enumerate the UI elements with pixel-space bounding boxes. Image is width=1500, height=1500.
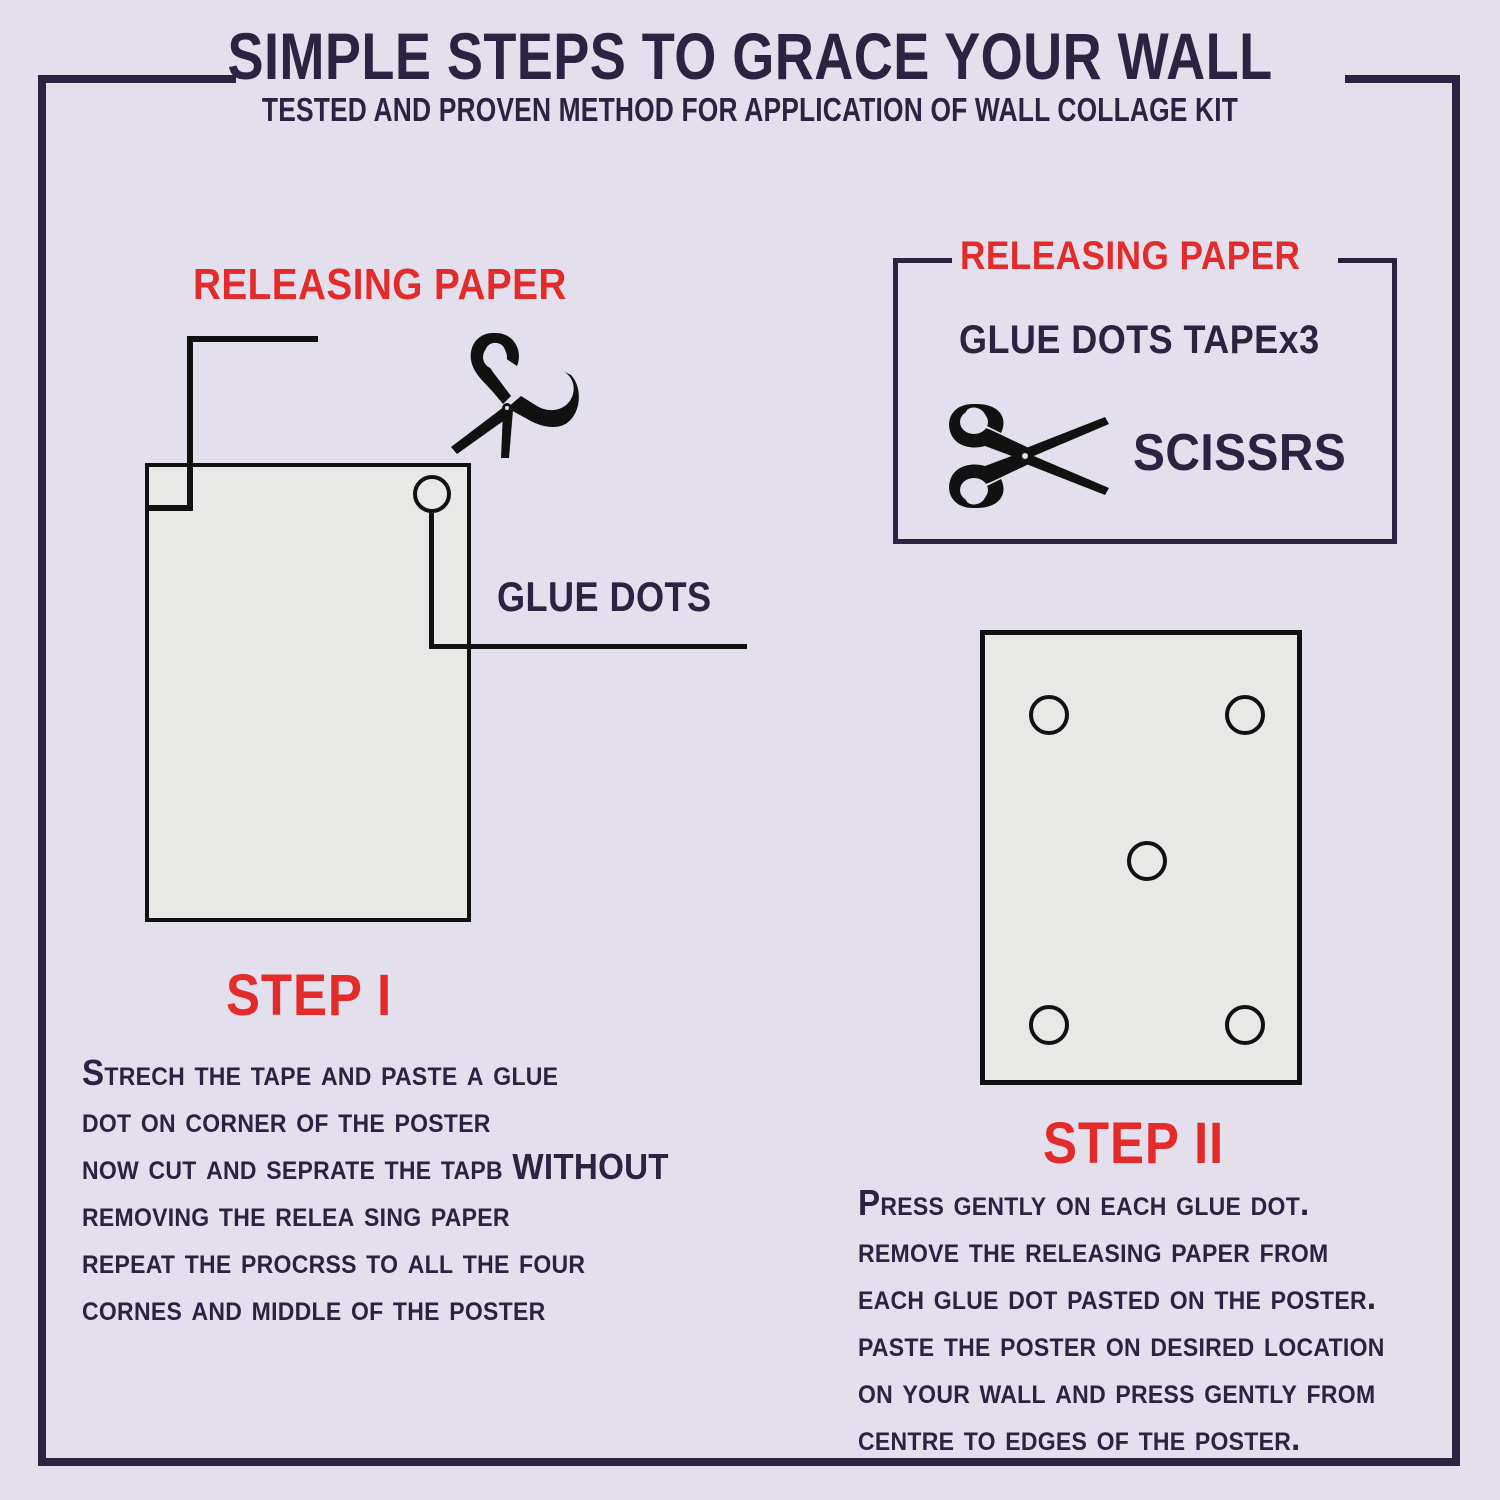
header: SIMPLE STEPS TO GRACE YOUR WALL TESTED A…	[0, 22, 1500, 128]
step-1-line: now cut and seprate the tapb WITHOUT	[82, 1143, 818, 1190]
glue-dot-top-left	[1029, 695, 1069, 735]
glue-dot-center	[1127, 841, 1167, 881]
scissors-icon	[443, 330, 583, 460]
step-2-body: Press gently on each glue dot. remove th…	[858, 1179, 1447, 1461]
step-1-line: repeat the procrss to all the four	[82, 1237, 818, 1284]
step-2-line: paste the poster on desired location	[858, 1320, 1447, 1367]
step-1-line: Strech the tape and paste a glue	[82, 1049, 818, 1096]
step-1-line: cornes and middle of the poster	[82, 1284, 818, 1331]
releasing-paper-label-left: RELEASING PAPER	[193, 260, 567, 310]
frame-right-edge	[1452, 75, 1460, 1466]
page-title: SIMPLE STEPS TO GRACE YOUR WALL	[135, 22, 1365, 90]
poster-sheet-step1	[145, 463, 471, 922]
glue-dot-corner	[413, 475, 451, 513]
poster-sheet-step2	[980, 630, 1302, 1085]
glue-dots-label-left: GLUE DOTS	[497, 573, 712, 621]
step-2-line: centre to edges of the poster.	[858, 1414, 1447, 1461]
glue-dots-tape-label: GLUE DOTS TAPEx3	[959, 318, 1320, 363]
step-1-line: removing the relea sing paper	[82, 1190, 818, 1237]
page-subtitle: TESTED AND PROVEN METHOD FOR APPLICATION…	[150, 92, 1350, 128]
glue-dot-bottom-right	[1225, 1005, 1265, 1045]
step-1-heading: STEP I	[226, 962, 392, 1029]
step-2-heading: STEP II	[1043, 1110, 1224, 1177]
releasing-paper-label-right: RELEASING PAPER	[960, 234, 1300, 279]
scissors-icon	[943, 400, 1115, 512]
step-2-line: each glue dot pasted on the poster.	[858, 1273, 1447, 1320]
scissors-label: SCISSRS	[1133, 423, 1346, 483]
leader-line-releasing-horizontal	[187, 336, 318, 342]
glue-dot-top-right	[1225, 695, 1265, 735]
leader-line-releasing-vertical	[187, 336, 193, 469]
step-2-line: Press gently on each glue dot.	[858, 1179, 1447, 1226]
step-2-line: on your wall and press gently from	[858, 1367, 1447, 1414]
step-1-body: Strech the tape and paste a glue dot on …	[82, 1049, 818, 1331]
step-2-line: remove the releasing paper from	[858, 1226, 1447, 1273]
glue-dot-bottom-left	[1029, 1005, 1069, 1045]
leader-line-gluedots-vertical	[429, 512, 434, 649]
step-1-line: dot on corner of the poster	[82, 1096, 818, 1143]
releasing-paper-corner-flap	[145, 463, 193, 511]
leader-line-gluedots-horizontal	[429, 644, 747, 649]
infographic-root: SIMPLE STEPS TO GRACE YOUR WALL TESTED A…	[0, 0, 1500, 1500]
frame-left-edge	[38, 75, 46, 1466]
